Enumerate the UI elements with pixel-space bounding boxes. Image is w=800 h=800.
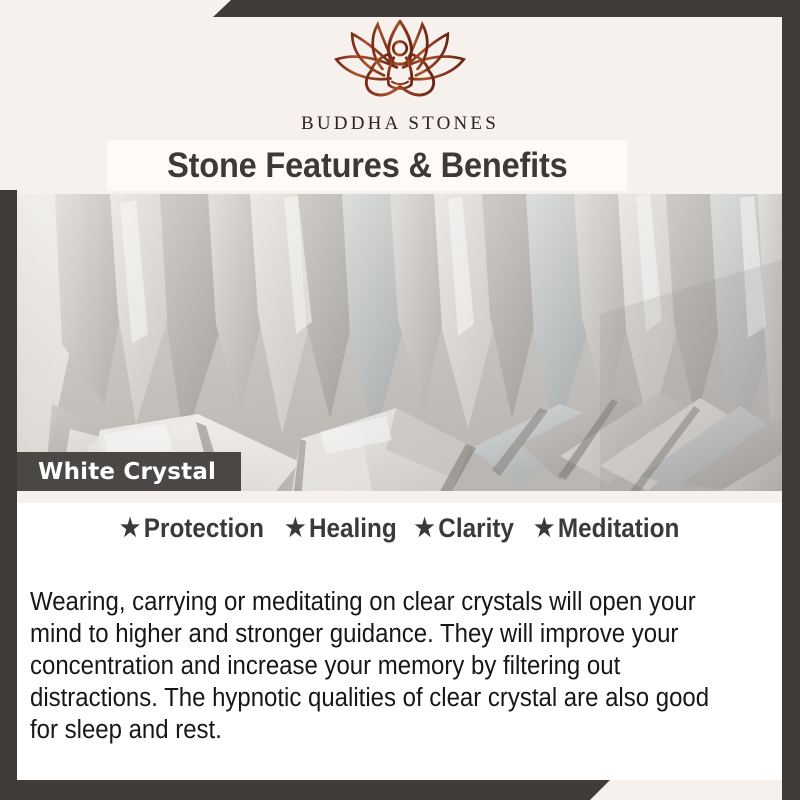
benefit-item-healing: ★Healing	[285, 513, 397, 544]
poster-canvas: BUDDHA STONES Stone Features & Benefits	[0, 0, 800, 800]
page-title-band: Stone Features & Benefits	[107, 140, 627, 191]
frame-right-bar	[782, 0, 800, 800]
stone-description: Wearing, carrying or meditating on clear…	[30, 586, 727, 746]
benefits-row: ★Protection ★Healing ★Clarity ★Meditatio…	[0, 513, 800, 544]
star-icon: ★	[120, 514, 140, 542]
benefit-item-protection: ★Protection	[120, 513, 264, 544]
benefit-item-meditation: ★Meditation	[534, 513, 679, 544]
white-crystal-cluster-photo	[0, 194, 800, 491]
brand-logo: BUDDHA STONES	[0, 18, 800, 135]
photo-bottom-strip	[0, 491, 800, 503]
photo-caption-bar: White Crystal	[17, 452, 241, 491]
page-title: Stone Features & Benefits	[167, 146, 568, 186]
benefit-label: Meditation	[558, 513, 680, 543]
frame-left-bar	[0, 190, 17, 800]
frame-top-bar	[213, 0, 800, 17]
star-icon: ★	[415, 514, 435, 542]
star-icon: ★	[534, 514, 554, 542]
photo-caption-label: White Crystal	[38, 459, 216, 485]
benefit-label: Protection	[144, 513, 264, 543]
frame-bottom-cream-bar	[588, 780, 800, 800]
star-icon: ★	[285, 514, 305, 542]
brand-name: BUDDHA STONES	[0, 113, 800, 135]
lotus-meditation-icon	[320, 18, 480, 104]
frame-bottom-bar	[0, 780, 610, 800]
benefit-label: Healing	[309, 513, 397, 543]
benefit-label: Clarity	[439, 513, 515, 543]
benefit-item-clarity: ★Clarity	[415, 513, 514, 544]
